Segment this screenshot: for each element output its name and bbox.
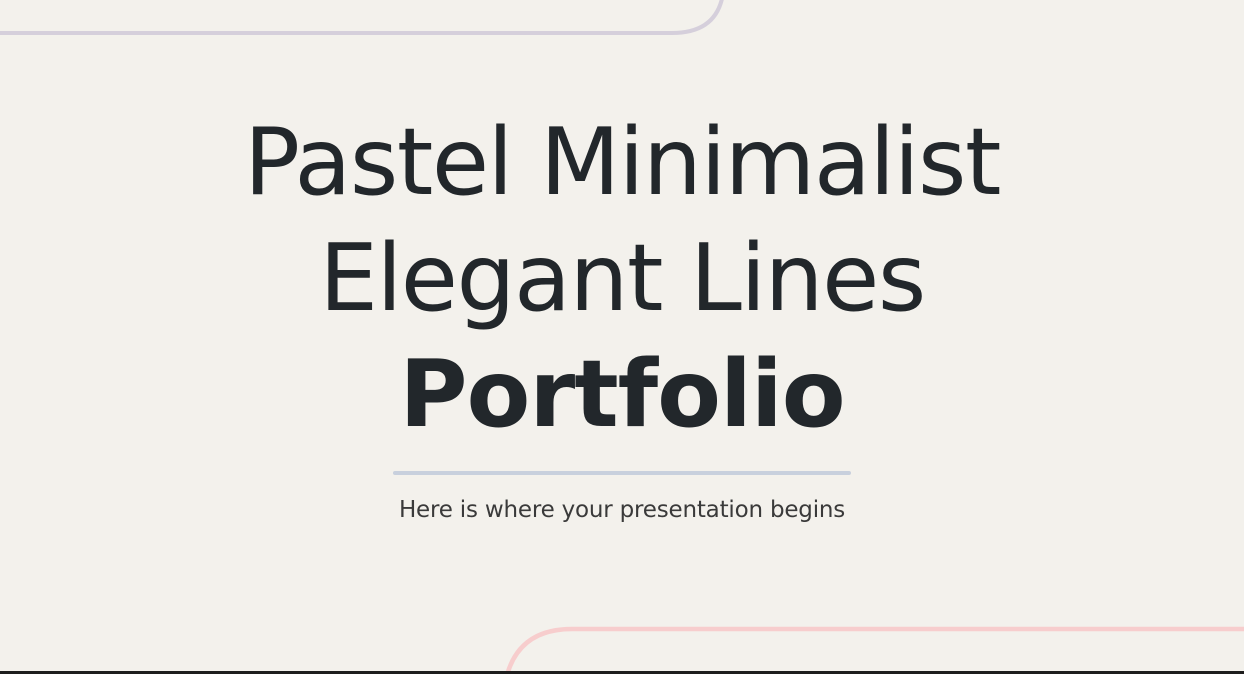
title-line-3: Portfolio [0, 336, 1244, 452]
title-line-2: Elegant Lines [0, 220, 1244, 336]
slide-title: Pastel Minimalist Elegant Lines Portfoli… [0, 104, 1244, 452]
slide-content: Pastel Minimalist Elegant Lines Portfoli… [0, 0, 1244, 674]
title-line-1: Pastel Minimalist [0, 104, 1244, 220]
presentation-slide: Pastel Minimalist Elegant Lines Portfoli… [0, 0, 1244, 674]
slide-subtitle: Here is where your presentation begins [399, 495, 845, 525]
title-divider [393, 471, 851, 475]
